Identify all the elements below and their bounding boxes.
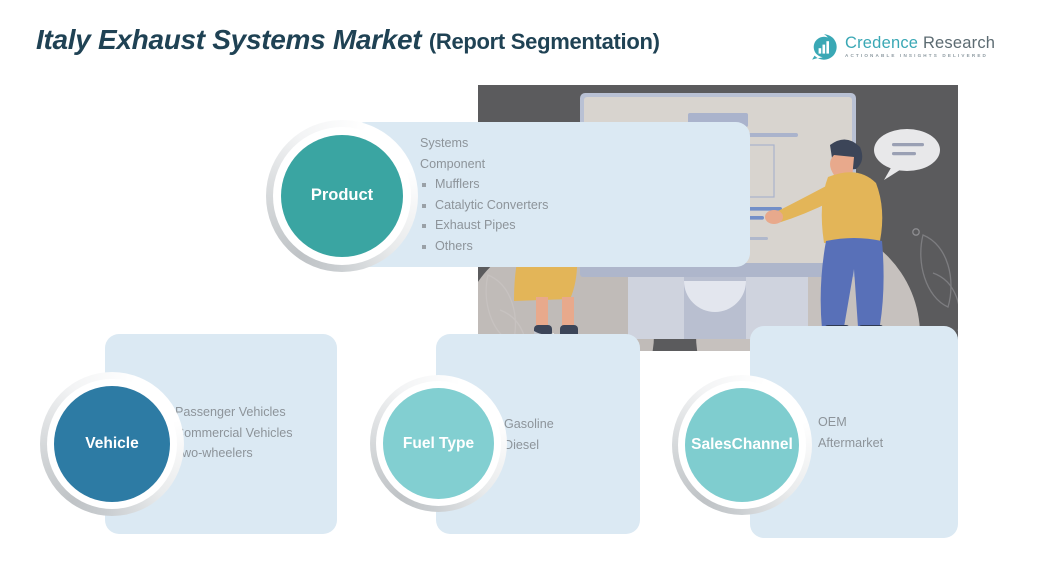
segment-label-fuel-type: Fuel Type xyxy=(383,388,494,499)
page-title-parenthetical: (Report Segmentation) xyxy=(429,29,660,54)
list-item: Catalytic Converters xyxy=(420,195,548,216)
segment-items-sales-channel: OEM Aftermarket xyxy=(818,412,883,453)
segment-circle-fuel-type: Fuel Type xyxy=(370,375,507,512)
list-item: Systems xyxy=(420,133,548,154)
segment-items-vehicle: Passenger Vehicles Commercial Vehicles T… xyxy=(175,402,293,464)
logo-tagline: Actionable Insights Delivered xyxy=(845,54,995,59)
list-item: Commercial Vehicles xyxy=(175,423,293,444)
segment-circle-sales-channel: SalesChannel xyxy=(672,375,812,515)
segment-label-vehicle: Vehicle xyxy=(54,386,170,502)
segment-label-product: Product xyxy=(281,135,403,257)
list-item: Component xyxy=(420,154,548,175)
segment-items-fuel-type: Gasoline Diesel xyxy=(504,414,554,455)
speech-bubble xyxy=(874,129,940,180)
dot-decoration xyxy=(913,229,919,235)
list-item: Diesel xyxy=(504,435,554,456)
list-item: Two-wheelers xyxy=(175,443,293,464)
segment-items-product: Systems Component Mufflers Catalytic Con… xyxy=(420,133,548,257)
segment-circle-product: Product xyxy=(266,120,418,272)
logo-word-research: Research xyxy=(918,34,995,52)
list-item: Others xyxy=(420,236,548,257)
page-title-main: Italy Exhaust Systems Market xyxy=(36,24,429,55)
page-title: Italy Exhaust Systems Market (Report Seg… xyxy=(36,24,660,56)
list-item: Gasoline xyxy=(504,414,554,435)
list-item: Aftermarket xyxy=(818,433,883,454)
credence-bar-chart-bubble-icon xyxy=(810,33,838,61)
logo-word-credence: Credence xyxy=(845,34,918,52)
brand-logo: Credence Research Actionable Insights De… xyxy=(810,33,995,61)
list-item: OEM xyxy=(818,412,883,433)
logo-text-block: Credence Research Actionable Insights De… xyxy=(845,35,995,59)
list-item: Passenger Vehicles xyxy=(175,402,293,423)
segment-label-sales-channel: SalesChannel xyxy=(685,388,799,502)
segment-circle-vehicle: Vehicle xyxy=(40,372,184,516)
list-item: Exhaust Pipes xyxy=(420,215,548,236)
header: Italy Exhaust Systems Market (Report Seg… xyxy=(0,0,1056,82)
logo-company-name: Credence Research xyxy=(845,35,995,52)
list-item: Mufflers xyxy=(420,174,548,195)
